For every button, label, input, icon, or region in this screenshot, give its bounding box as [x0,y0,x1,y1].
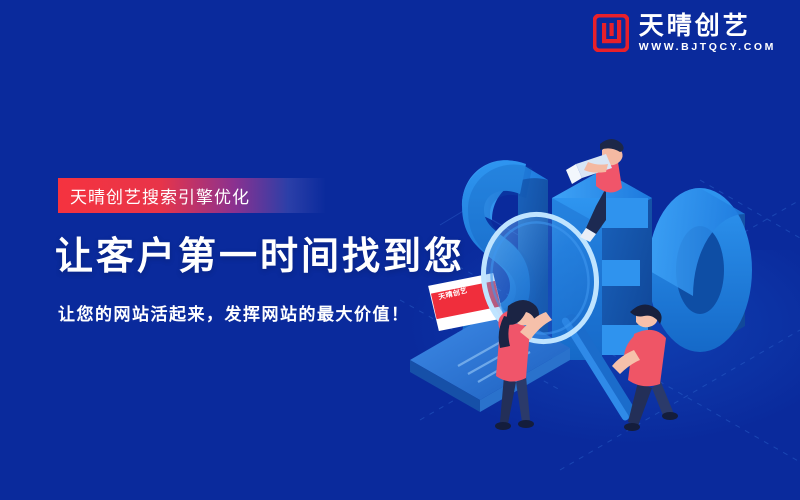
seo-isometric-illustration [400,110,800,430]
section-label-bar: 天晴创艺搜索引擎优化 [58,178,326,213]
seo-promo-banner: 天晴创艺 WWW.BJTQCY.COM 天晴创艺搜索引擎优化 让客户第一时间找到… [0,0,800,500]
site-logo[interactable]: 天晴创艺 WWW.BJTQCY.COM [593,14,776,53]
hero-subheadline: 让您的网站活起来，发挥网站的最大价值！ [58,300,410,325]
tianqing-logo-mark-icon [593,14,629,52]
logo-website-url: WWW.BJTQCY.COM [639,42,776,53]
logo-company-name: 天晴创艺 [639,14,776,39]
letter-o-3d [648,188,752,352]
section-label-text: 天晴创艺搜索引擎优化 [58,183,250,208]
